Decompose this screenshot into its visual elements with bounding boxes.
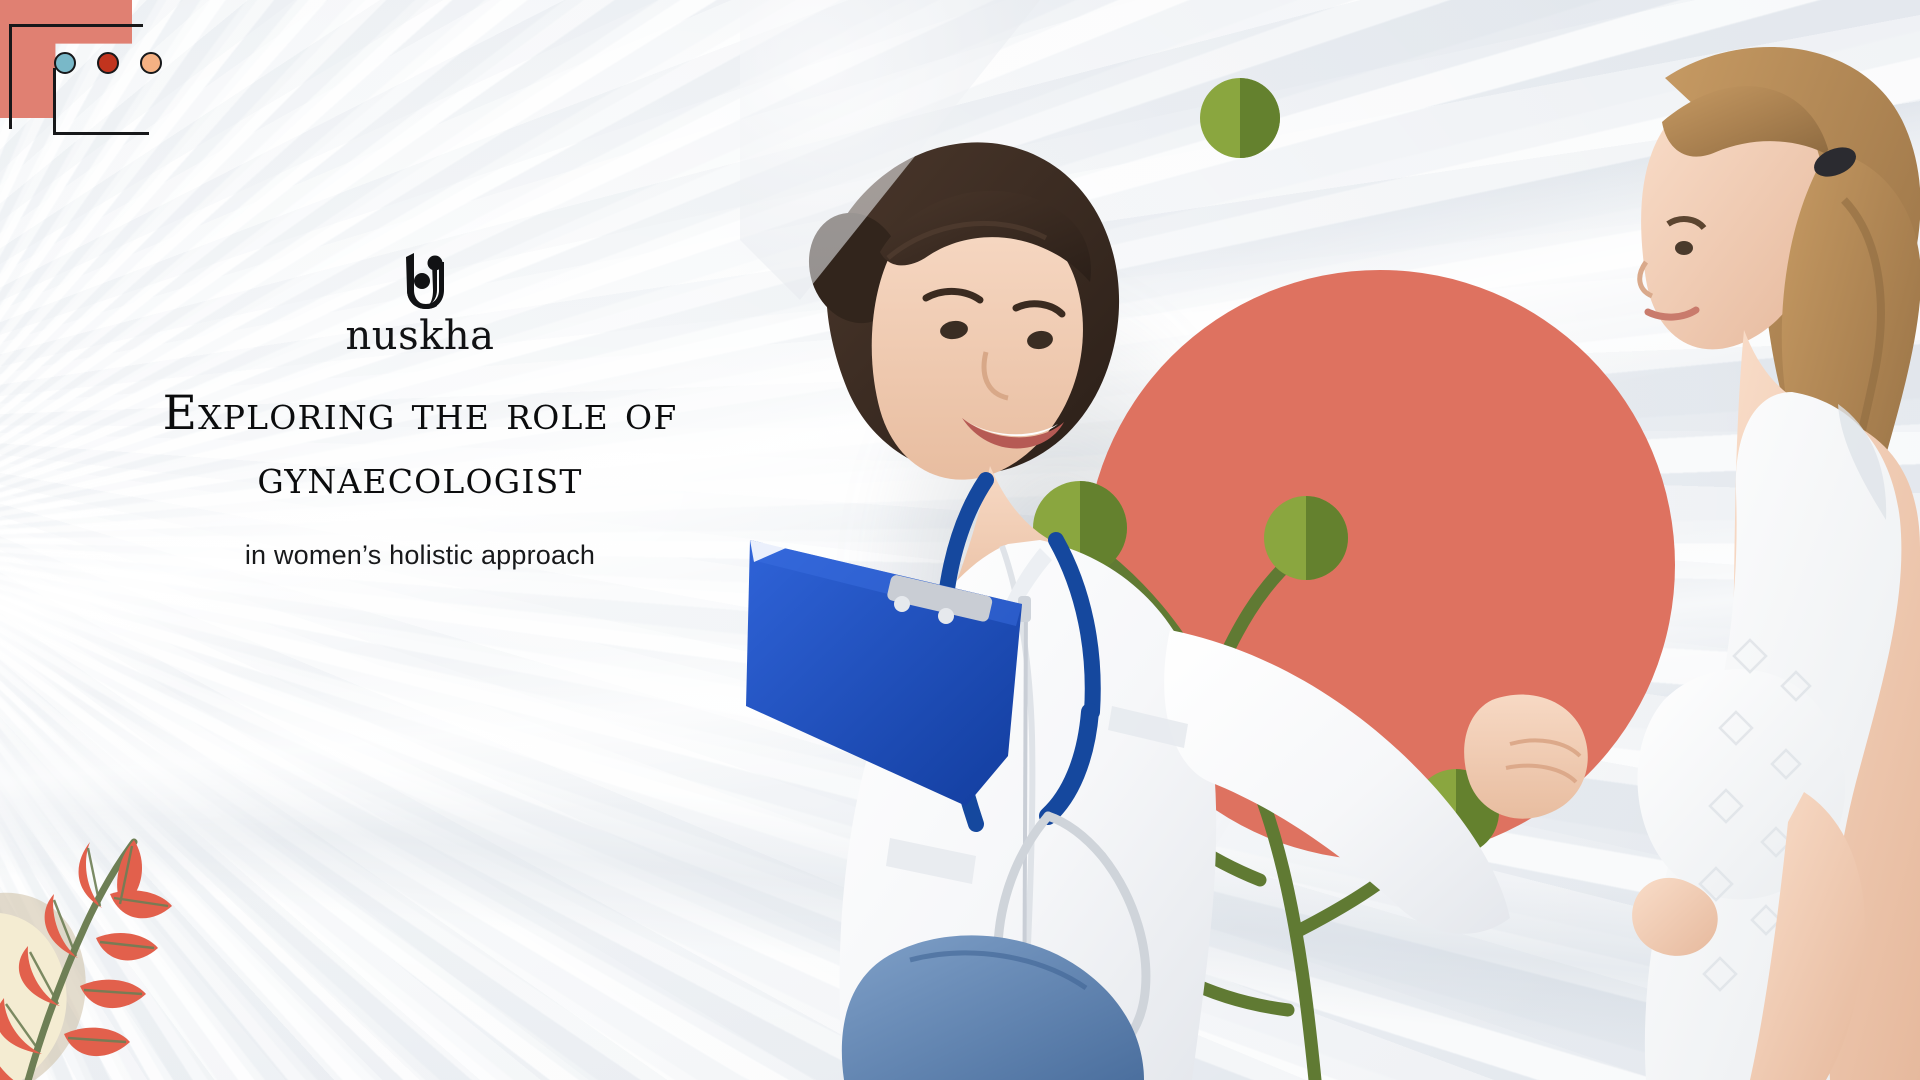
nuskha-monogram-icon — [393, 250, 447, 312]
page-title: Exploring the role of gynaecologist — [163, 382, 678, 510]
illustration-stage — [740, 0, 1920, 1080]
blog-banner: nuskha Exploring the role of gynaecologi… — [0, 0, 1920, 1080]
brand-lockup[interactable]: nuskha — [346, 250, 495, 356]
headline-line-2: gynaecologist — [163, 446, 678, 510]
pregnant-patient-photo — [1632, 47, 1920, 1080]
dot-blue — [54, 52, 76, 74]
headline-line-1: Exploring the role of — [163, 382, 678, 446]
plant-leaf — [1264, 496, 1348, 580]
scene-artwork — [740, 0, 1920, 1080]
subtitle: in women’s holistic approach — [245, 540, 595, 571]
plant-leaf — [1200, 78, 1280, 158]
corner-frame-outline — [9, 24, 143, 129]
text-column: nuskha Exploring the role of gynaecologi… — [0, 250, 840, 571]
coral-leaf-branch-icon — [0, 758, 312, 1080]
brand-wordmark: nuskha — [346, 316, 495, 356]
corner-frame — [0, 0, 200, 135]
dot-brick — [97, 52, 119, 74]
corner-frame-dots — [54, 52, 162, 74]
dot-peach — [140, 52, 162, 74]
